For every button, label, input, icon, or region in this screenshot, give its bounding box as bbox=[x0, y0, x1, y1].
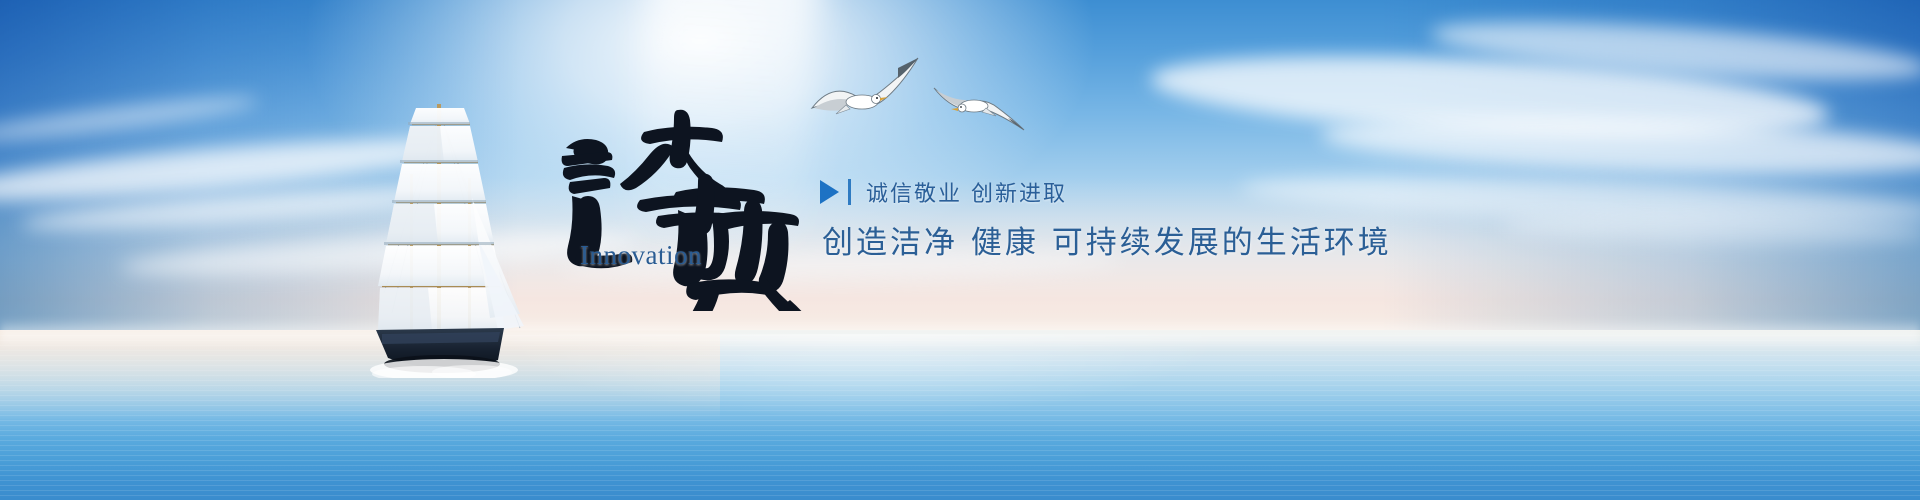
horizon-haze bbox=[0, 318, 1920, 348]
hero-banner: Innovation 诚信敬业 创新进取 创造洁净 健康 可持续发展的生活环境 bbox=[0, 0, 1920, 500]
tagline-block: 诚信敬业 创新进取 创造洁净 健康 可持续发展的生活环境 bbox=[820, 176, 1460, 262]
sea-light-sheen bbox=[430, 334, 1290, 500]
tagline-secondary: 创造洁净 健康 可持续发展的生活环境 bbox=[822, 217, 1460, 262]
play-triangle-icon bbox=[820, 180, 839, 204]
tagline-primary: 诚信敬业 创新进取 bbox=[866, 176, 1067, 208]
tagline-row-primary: 诚信敬业 创新进取 bbox=[820, 176, 1460, 208]
vertical-bar-divider-icon bbox=[848, 179, 851, 205]
seagull-right-icon bbox=[930, 66, 1028, 136]
sailing-ship bbox=[352, 78, 527, 378]
calligraphy-kuayue bbox=[548, 96, 838, 311]
innovation-label: Innovation bbox=[580, 240, 702, 271]
